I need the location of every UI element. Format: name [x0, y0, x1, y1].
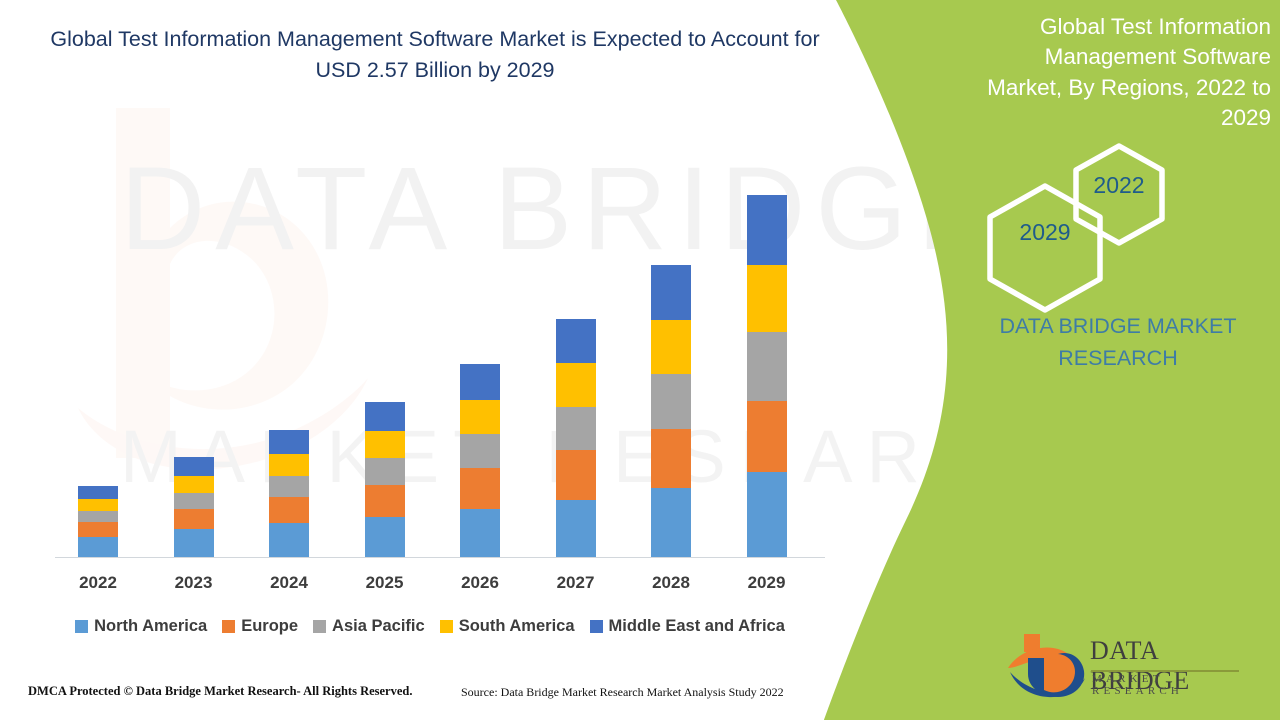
bar-segment[interactable]	[460, 434, 500, 469]
x-axis-label-2029: 2029	[727, 573, 807, 593]
bar-segment[interactable]	[460, 468, 500, 509]
bar-segment[interactable]	[556, 363, 596, 406]
legend-swatch-icon	[222, 620, 235, 633]
legend-label: South America	[459, 617, 575, 636]
brand-name-text: DATA BRIDGE MARKET RESEARCH	[968, 310, 1268, 375]
bar-segment[interactable]	[78, 499, 118, 511]
legend-swatch-icon	[313, 620, 326, 633]
x-axis-label-2024: 2024	[249, 573, 329, 593]
hexagon-label-2029: 2029	[1000, 219, 1090, 246]
bar-segment[interactable]	[747, 195, 787, 264]
bar-segment[interactable]	[78, 522, 118, 537]
bar-segment[interactable]	[78, 486, 118, 499]
bar-segment[interactable]	[365, 485, 405, 517]
bar-segment[interactable]	[78, 537, 118, 557]
chart-panel: DATA BRIDGE MARKET RESEARCH Global Test …	[0, 0, 880, 720]
legend-item[interactable]: Europe	[222, 617, 298, 636]
x-axis-line	[55, 557, 825, 558]
x-axis-label-2023: 2023	[154, 573, 234, 593]
bar-segment[interactable]	[174, 493, 214, 509]
bar-segment[interactable]	[269, 430, 309, 454]
chart-legend: North AmericaEuropeAsia PacificSouth Ame…	[0, 617, 860, 636]
bar-segment[interactable]	[460, 364, 500, 400]
logo-divider	[1091, 670, 1239, 672]
copyright-text: DMCA Protected © Data Bridge Market Rese…	[28, 684, 413, 699]
bar-segment[interactable]	[651, 320, 691, 373]
bar-stack-2029[interactable]	[747, 195, 787, 557]
bar-stack-2026[interactable]	[460, 364, 500, 557]
logo-mark-icon	[1006, 628, 1086, 698]
bar-segment[interactable]	[651, 374, 691, 429]
bar-stack-2022[interactable]	[78, 486, 118, 557]
brand-panel: Global Test Information Management Softw…	[810, 0, 1280, 720]
bar-stack-2023[interactable]	[174, 457, 214, 557]
bar-segment[interactable]	[174, 529, 214, 557]
bar-segment[interactable]	[174, 509, 214, 529]
bar-segment[interactable]	[556, 500, 596, 557]
bar-segment[interactable]	[365, 402, 405, 431]
bar-segment[interactable]	[269, 523, 309, 557]
bar-segment[interactable]	[747, 472, 787, 557]
bar-segment[interactable]	[365, 517, 405, 557]
panel-title: Global Test Information Management Softw…	[971, 12, 1271, 134]
bar-segment[interactable]	[651, 429, 691, 488]
bar-segment[interactable]	[651, 488, 691, 557]
company-logo: DATA BRIDGE MARKET RESEARCH	[1006, 628, 1256, 700]
bar-segment[interactable]	[747, 265, 787, 333]
legend-swatch-icon	[75, 620, 88, 633]
bar-segment[interactable]	[747, 332, 787, 400]
legend-label: Middle East and Africa	[609, 617, 785, 636]
bar-segment[interactable]	[460, 509, 500, 557]
bar-segment[interactable]	[174, 476, 214, 493]
bar-segment[interactable]	[78, 511, 118, 522]
x-axis-label-2022: 2022	[58, 573, 138, 593]
bar-segment[interactable]	[174, 457, 214, 476]
legend-swatch-icon	[440, 620, 453, 633]
bar-stack-2024[interactable]	[269, 430, 309, 557]
source-text: Source: Data Bridge Market Research Mark…	[461, 685, 784, 700]
bar-segment[interactable]	[747, 401, 787, 473]
legend-item[interactable]: North America	[75, 617, 207, 636]
legend-item[interactable]: Asia Pacific	[313, 617, 425, 636]
legend-label: Asia Pacific	[332, 617, 425, 636]
bar-segment[interactable]	[556, 450, 596, 499]
legend-label: Europe	[241, 617, 298, 636]
x-axis-label-2026: 2026	[440, 573, 520, 593]
logo-tagline: MARKET RESEARCH	[1092, 673, 1256, 697]
legend-label: North America	[94, 617, 207, 636]
bar-stack-2025[interactable]	[365, 402, 405, 557]
x-axis-label-2025: 2025	[345, 573, 425, 593]
hexagon-label-2022: 2022	[1074, 172, 1164, 199]
legend-item[interactable]: Middle East and Africa	[590, 617, 785, 636]
plot-area: 20222023202420252026202720282029	[0, 0, 880, 720]
bar-segment[interactable]	[460, 400, 500, 434]
bar-segment[interactable]	[269, 497, 309, 523]
bar-segment[interactable]	[556, 319, 596, 364]
x-axis-label-2027: 2027	[536, 573, 616, 593]
bar-stack-2027[interactable]	[556, 319, 596, 557]
bar-segment[interactable]	[269, 454, 309, 476]
bar-segment[interactable]	[269, 476, 309, 497]
bar-segment[interactable]	[365, 458, 405, 485]
chart-canvas: DATA BRIDGE MARKET RESEARCH Global Test …	[0, 0, 1280, 720]
bar-segment[interactable]	[651, 265, 691, 320]
legend-item[interactable]: South America	[440, 617, 575, 636]
bar-segment[interactable]	[365, 431, 405, 458]
bar-stack-2028[interactable]	[651, 265, 691, 557]
x-axis-label-2028: 2028	[631, 573, 711, 593]
bar-segment[interactable]	[556, 407, 596, 451]
legend-swatch-icon	[590, 620, 603, 633]
